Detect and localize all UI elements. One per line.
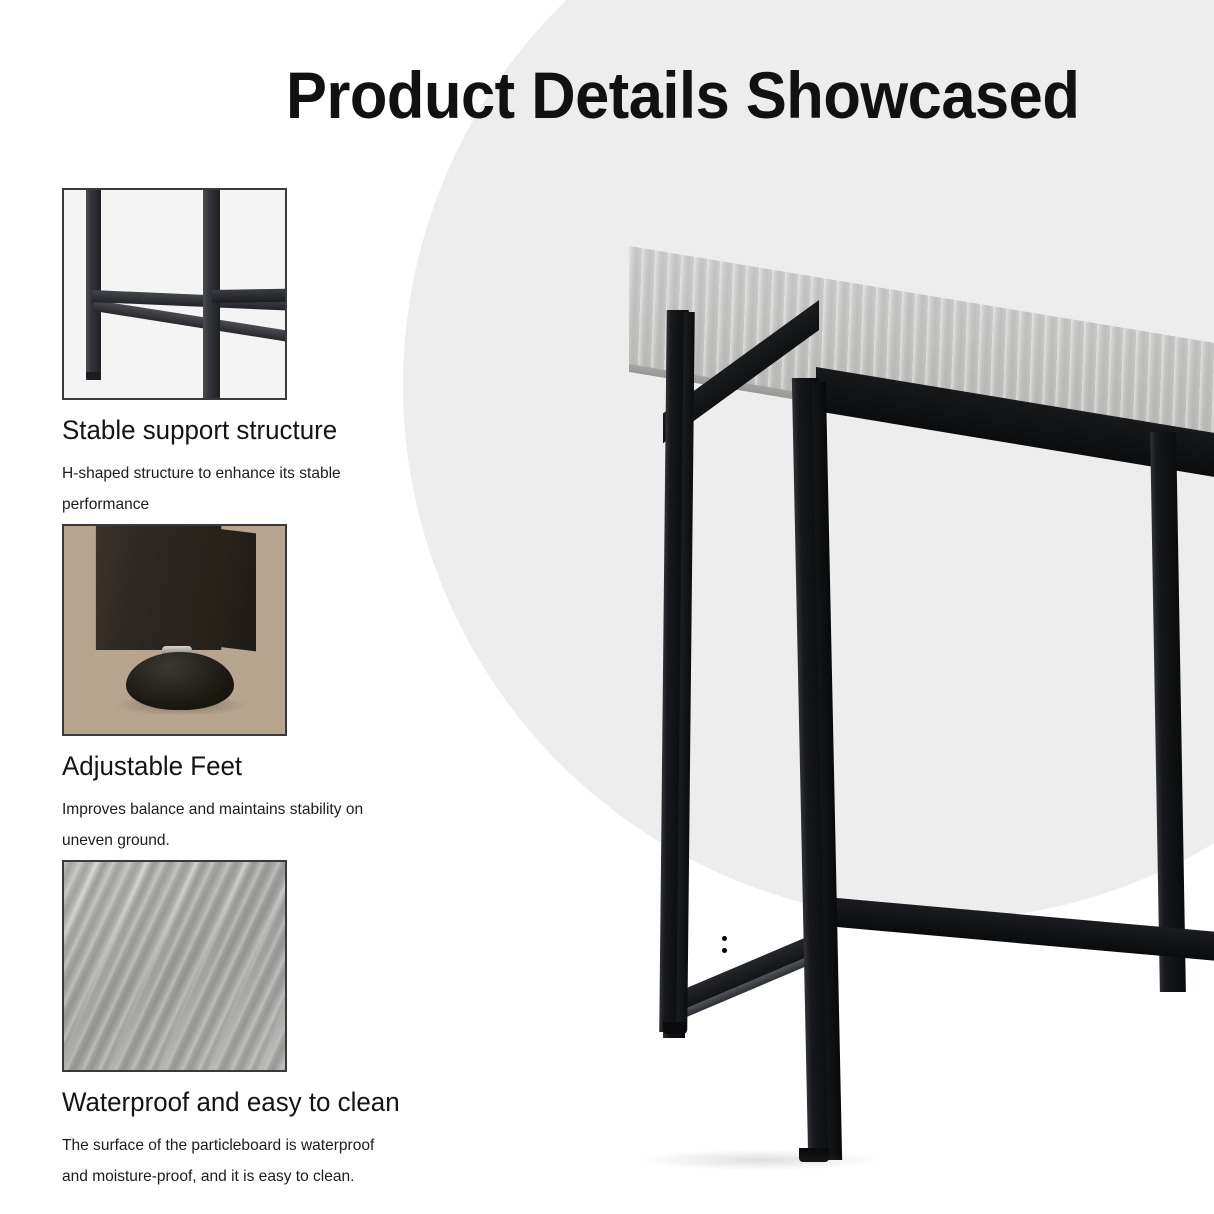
feature-heading: Waterproof and easy to clean — [62, 1086, 388, 1118]
thumb-leg-front-face — [96, 524, 221, 650]
foot-front-left — [663, 1022, 687, 1034]
h-frame-detail-thumbnail — [62, 188, 287, 400]
thumb-adjustable-foot-pad — [126, 652, 234, 710]
stretcher-bolt-lower — [722, 948, 727, 953]
feature-description: Improves balance and maintains stability… — [62, 794, 382, 856]
grey-woodgrain-texture-thumbnail — [62, 860, 287, 1072]
leg-back-right — [1150, 432, 1186, 992]
feature-heading: Adjustable Feet — [62, 750, 388, 782]
feature-description: The surface of the particleboard is wate… — [62, 1130, 382, 1192]
feature-block-adjustable-feet: Adjustable Feet Improves balance and mai… — [62, 524, 402, 856]
thumb-crossbar-far — [212, 289, 287, 303]
thumb-leg-left — [86, 188, 101, 380]
feature-block-stable-support-structure: Stable support structure H-shaped struct… — [62, 188, 402, 520]
floor-shadow — [640, 1150, 880, 1170]
adjustable-foot-detail-thumbnail — [62, 524, 287, 736]
page-title: Product Details Showcased — [286, 58, 1079, 132]
stretcher-right — [826, 897, 1214, 961]
thumb-leg-foot — [86, 372, 101, 380]
feature-heading: Stable support structure — [62, 414, 388, 446]
feature-description: H-shaped structure to enhance its stable… — [62, 458, 382, 520]
showcase-page: Product Details Showcased Stable support… — [0, 0, 1214, 1214]
feature-block-waterproof-easy-clean: Waterproof and easy to clean The surface… — [62, 860, 402, 1192]
thumb-woodgrain-surface — [64, 862, 285, 1070]
stretcher-bolt-upper — [722, 936, 727, 941]
